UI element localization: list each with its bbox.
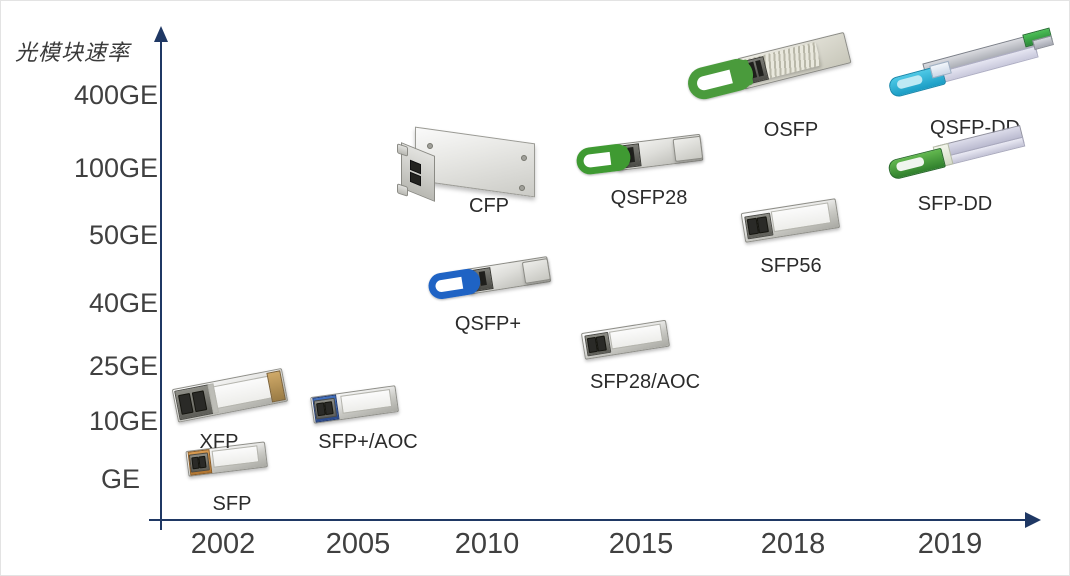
y-tick-label: 400GE [74, 80, 158, 111]
module-label-sfp56: SFP56 [760, 255, 821, 278]
x-tick-2002: 2002 [158, 528, 288, 561]
qsfp-dd-transceiver-image [885, 27, 1059, 100]
x-tick-2018: 2018 [728, 528, 858, 561]
module-osfp: OSFP [687, 55, 867, 141]
x-axis-arrowhead [1025, 512, 1041, 528]
module-label-qsfp28: QSFP28 [611, 187, 688, 210]
y-tick-label: 10GE [89, 406, 158, 437]
x-tick-2015: 2015 [576, 528, 706, 561]
module-label-xfp: XFP [200, 431, 239, 454]
x-tick-2019: 2019 [885, 528, 1015, 561]
module-sfp-dd: SFP-DD [887, 147, 1057, 221]
y-axis-title: 光模块速率 [15, 35, 130, 67]
xfp-transceiver-image [172, 368, 288, 423]
module-label-osfp: OSFP [764, 119, 818, 142]
module-label-sfp-plus-aoc: SFP+/AOC [318, 431, 417, 454]
module-label-sfp: SFP [213, 493, 252, 516]
y-tick-label: GE [101, 464, 158, 495]
qsfp-plus-transceiver-image [427, 256, 552, 305]
x-tick-2005: 2005 [293, 528, 423, 561]
cfp-transceiver-image [393, 133, 543, 203]
x-tick-2010: 2010 [422, 528, 552, 561]
module-sfp28-aoc: SFP28/AOC [579, 327, 713, 399]
y-tick-label: 25GE [89, 351, 158, 382]
module-xfp: XFP [173, 385, 295, 457]
y-tick-label: 40GE [89, 288, 158, 319]
module-sfp-plus-aoc: SFP+/AOC [310, 389, 430, 461]
y-tick-label: 100GE [74, 153, 158, 184]
sfp28-transceiver-image [581, 320, 670, 360]
module-qsfp-dd: QSFP-DD [887, 55, 1067, 141]
module-label-sfp-dd: SFP-DD [918, 193, 992, 216]
module-qsfp28: QSFP28 [573, 139, 715, 211]
sfp-plus-transceiver-image [310, 385, 399, 424]
module-label-qsfp-plus: QSFP+ [455, 313, 521, 336]
y-axis-line [160, 37, 162, 530]
module-label-cfp: CFP [469, 195, 509, 218]
osfp-transceiver-image [685, 32, 853, 107]
module-qsfp-plus: QSFP+ [425, 267, 555, 337]
module-sfp: SFP [187, 451, 277, 521]
y-tick-label: 50GE [89, 220, 158, 251]
sfp56-transceiver-image [741, 198, 841, 243]
module-sfp56: SFP56 [739, 207, 859, 279]
module-cfp: CFP [393, 133, 553, 225]
timeline-chart-canvas: 光模块速率 400GE 100GE 50GE 40GE 25GE 10GE GE… [0, 0, 1070, 576]
qsfp28-transceiver-image [575, 134, 704, 181]
x-axis-line [149, 519, 1029, 521]
y-axis-arrowhead [154, 26, 168, 42]
module-label-sfp28-aoc: SFP28/AOC [590, 371, 700, 394]
